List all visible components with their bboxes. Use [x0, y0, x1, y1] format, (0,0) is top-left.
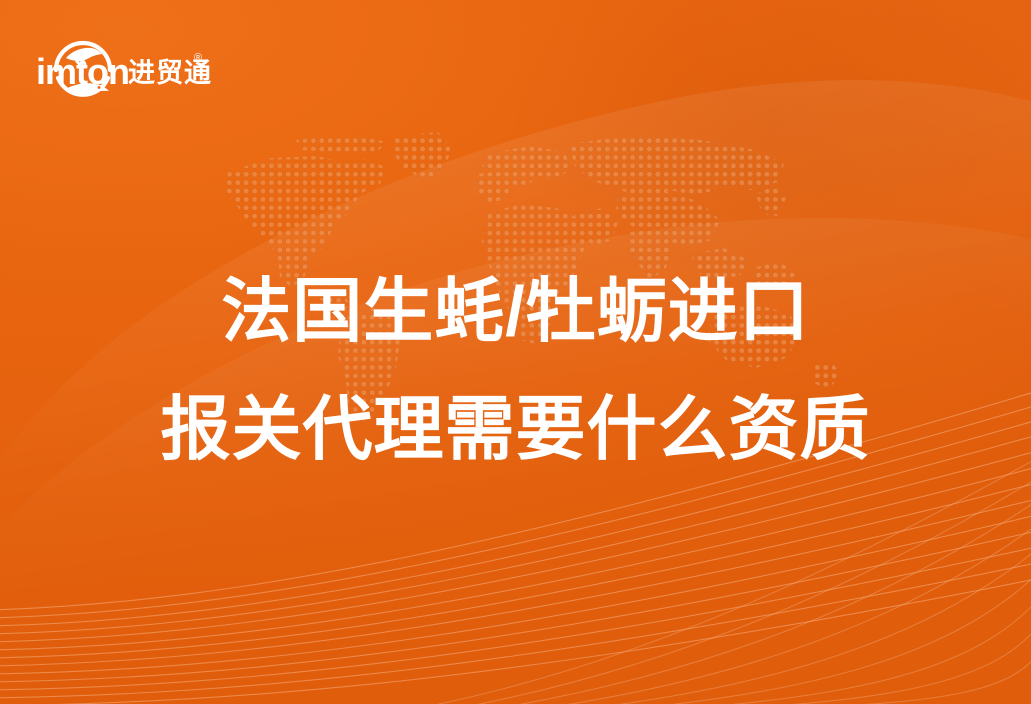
brand-logo[interactable]: imton 进贸通 ®: [36, 26, 246, 104]
headline-block: 法国生蚝/牡蛎进口 报关代理需要什么资质: [0, 252, 1031, 488]
headline-line-2: 报关代理需要什么资质: [0, 370, 1031, 488]
brand-wordmark: imton: [36, 51, 129, 92]
registered-trademark-icon: ®: [194, 52, 202, 64]
headline-line-1: 法国生蚝/牡蛎进口: [0, 252, 1031, 370]
poster-canvas: imton 进贸通 ® 法国生蚝/牡蛎进口 报关代理需要什么资质: [0, 0, 1031, 704]
